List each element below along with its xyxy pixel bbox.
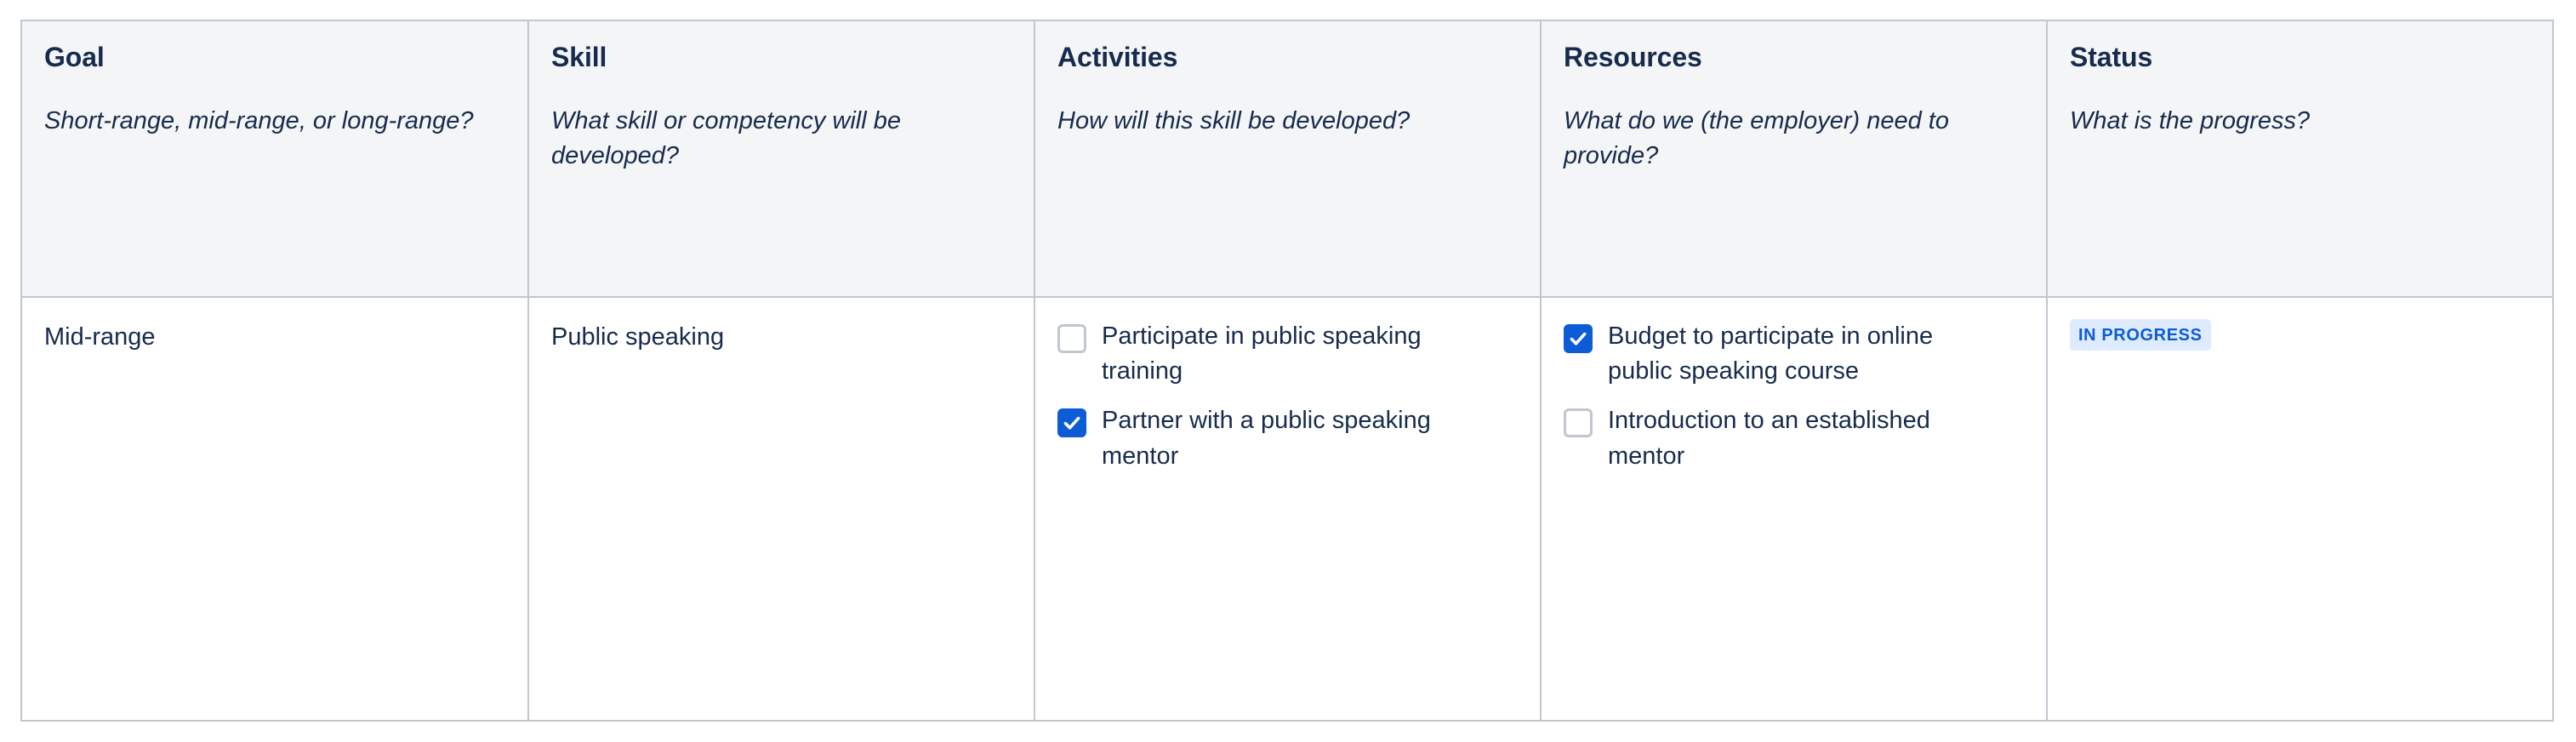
list-item[interactable]: Participate in public speaking training: [1057, 319, 1518, 389]
column-title-resources: Resources: [1564, 40, 2024, 74]
cell-goal: Mid-range: [21, 297, 528, 721]
list-item[interactable]: Budget to participate in online public s…: [1564, 319, 2024, 389]
skill-value: Public speaking: [551, 319, 1012, 355]
page-root: Goal Short-range, mid-range, or long-ran…: [0, 0, 2576, 742]
column-header-goal: Goal Short-range, mid-range, or long-ran…: [21, 20, 528, 297]
cell-status: In progress: [2047, 297, 2553, 721]
column-subtitle-status: What is the progress?: [2070, 104, 2530, 139]
activity-label: Partner with a public speaking mentor: [1102, 403, 1468, 473]
resources-task-list: Budget to participate in online public s…: [1564, 319, 2024, 474]
column-title-skill: Skill: [551, 40, 1012, 74]
status-badge[interactable]: In progress: [2070, 319, 2211, 351]
header-row: Goal Short-range, mid-range, or long-ran…: [21, 20, 2553, 297]
list-item[interactable]: Introduction to an established mentor: [1564, 403, 2024, 473]
development-plan-table: Goal Short-range, mid-range, or long-ran…: [20, 20, 2554, 722]
cell-activities: Participate in public speaking training …: [1034, 297, 1541, 721]
column-title-goal: Goal: [44, 40, 505, 74]
column-header-activities: Activities How will this skill be develo…: [1034, 20, 1541, 297]
table-header: Goal Short-range, mid-range, or long-ran…: [21, 20, 2553, 297]
checkbox-checked-icon[interactable]: [1564, 324, 1593, 353]
column-subtitle-goal: Short-range, mid-range, or long-range?: [44, 104, 505, 139]
table-body: Mid-range Public speaking Participate in…: [21, 297, 2553, 721]
activities-task-list: Participate in public speaking training …: [1057, 319, 1518, 474]
resource-label: Introduction to an established mentor: [1608, 403, 1974, 473]
cell-resources: Budget to participate in online public s…: [1541, 297, 2047, 721]
checkbox-checked-icon[interactable]: [1057, 408, 1086, 437]
cell-skill: Public speaking: [528, 297, 1034, 721]
table-row: Mid-range Public speaking Participate in…: [21, 297, 2553, 721]
goal-value: Mid-range: [44, 319, 505, 355]
resource-label: Budget to participate in online public s…: [1608, 319, 1974, 389]
column-title-status: Status: [2070, 40, 2530, 74]
checkbox-unchecked-icon[interactable]: [1564, 408, 1593, 437]
column-header-resources: Resources What do we (the employer) need…: [1541, 20, 2047, 297]
column-header-skill: Skill What skill or competency will be d…: [528, 20, 1034, 297]
column-title-activities: Activities: [1057, 40, 1518, 74]
activity-label: Participate in public speaking training: [1102, 319, 1468, 389]
column-subtitle-activities: How will this skill be developed?: [1057, 104, 1518, 139]
list-item[interactable]: Partner with a public speaking mentor: [1057, 403, 1518, 473]
column-subtitle-resources: What do we (the employer) need to provid…: [1564, 104, 2024, 174]
column-header-status: Status What is the progress?: [2047, 20, 2553, 297]
checkbox-unchecked-icon[interactable]: [1057, 324, 1086, 353]
column-subtitle-skill: What skill or competency will be develop…: [551, 104, 1012, 174]
